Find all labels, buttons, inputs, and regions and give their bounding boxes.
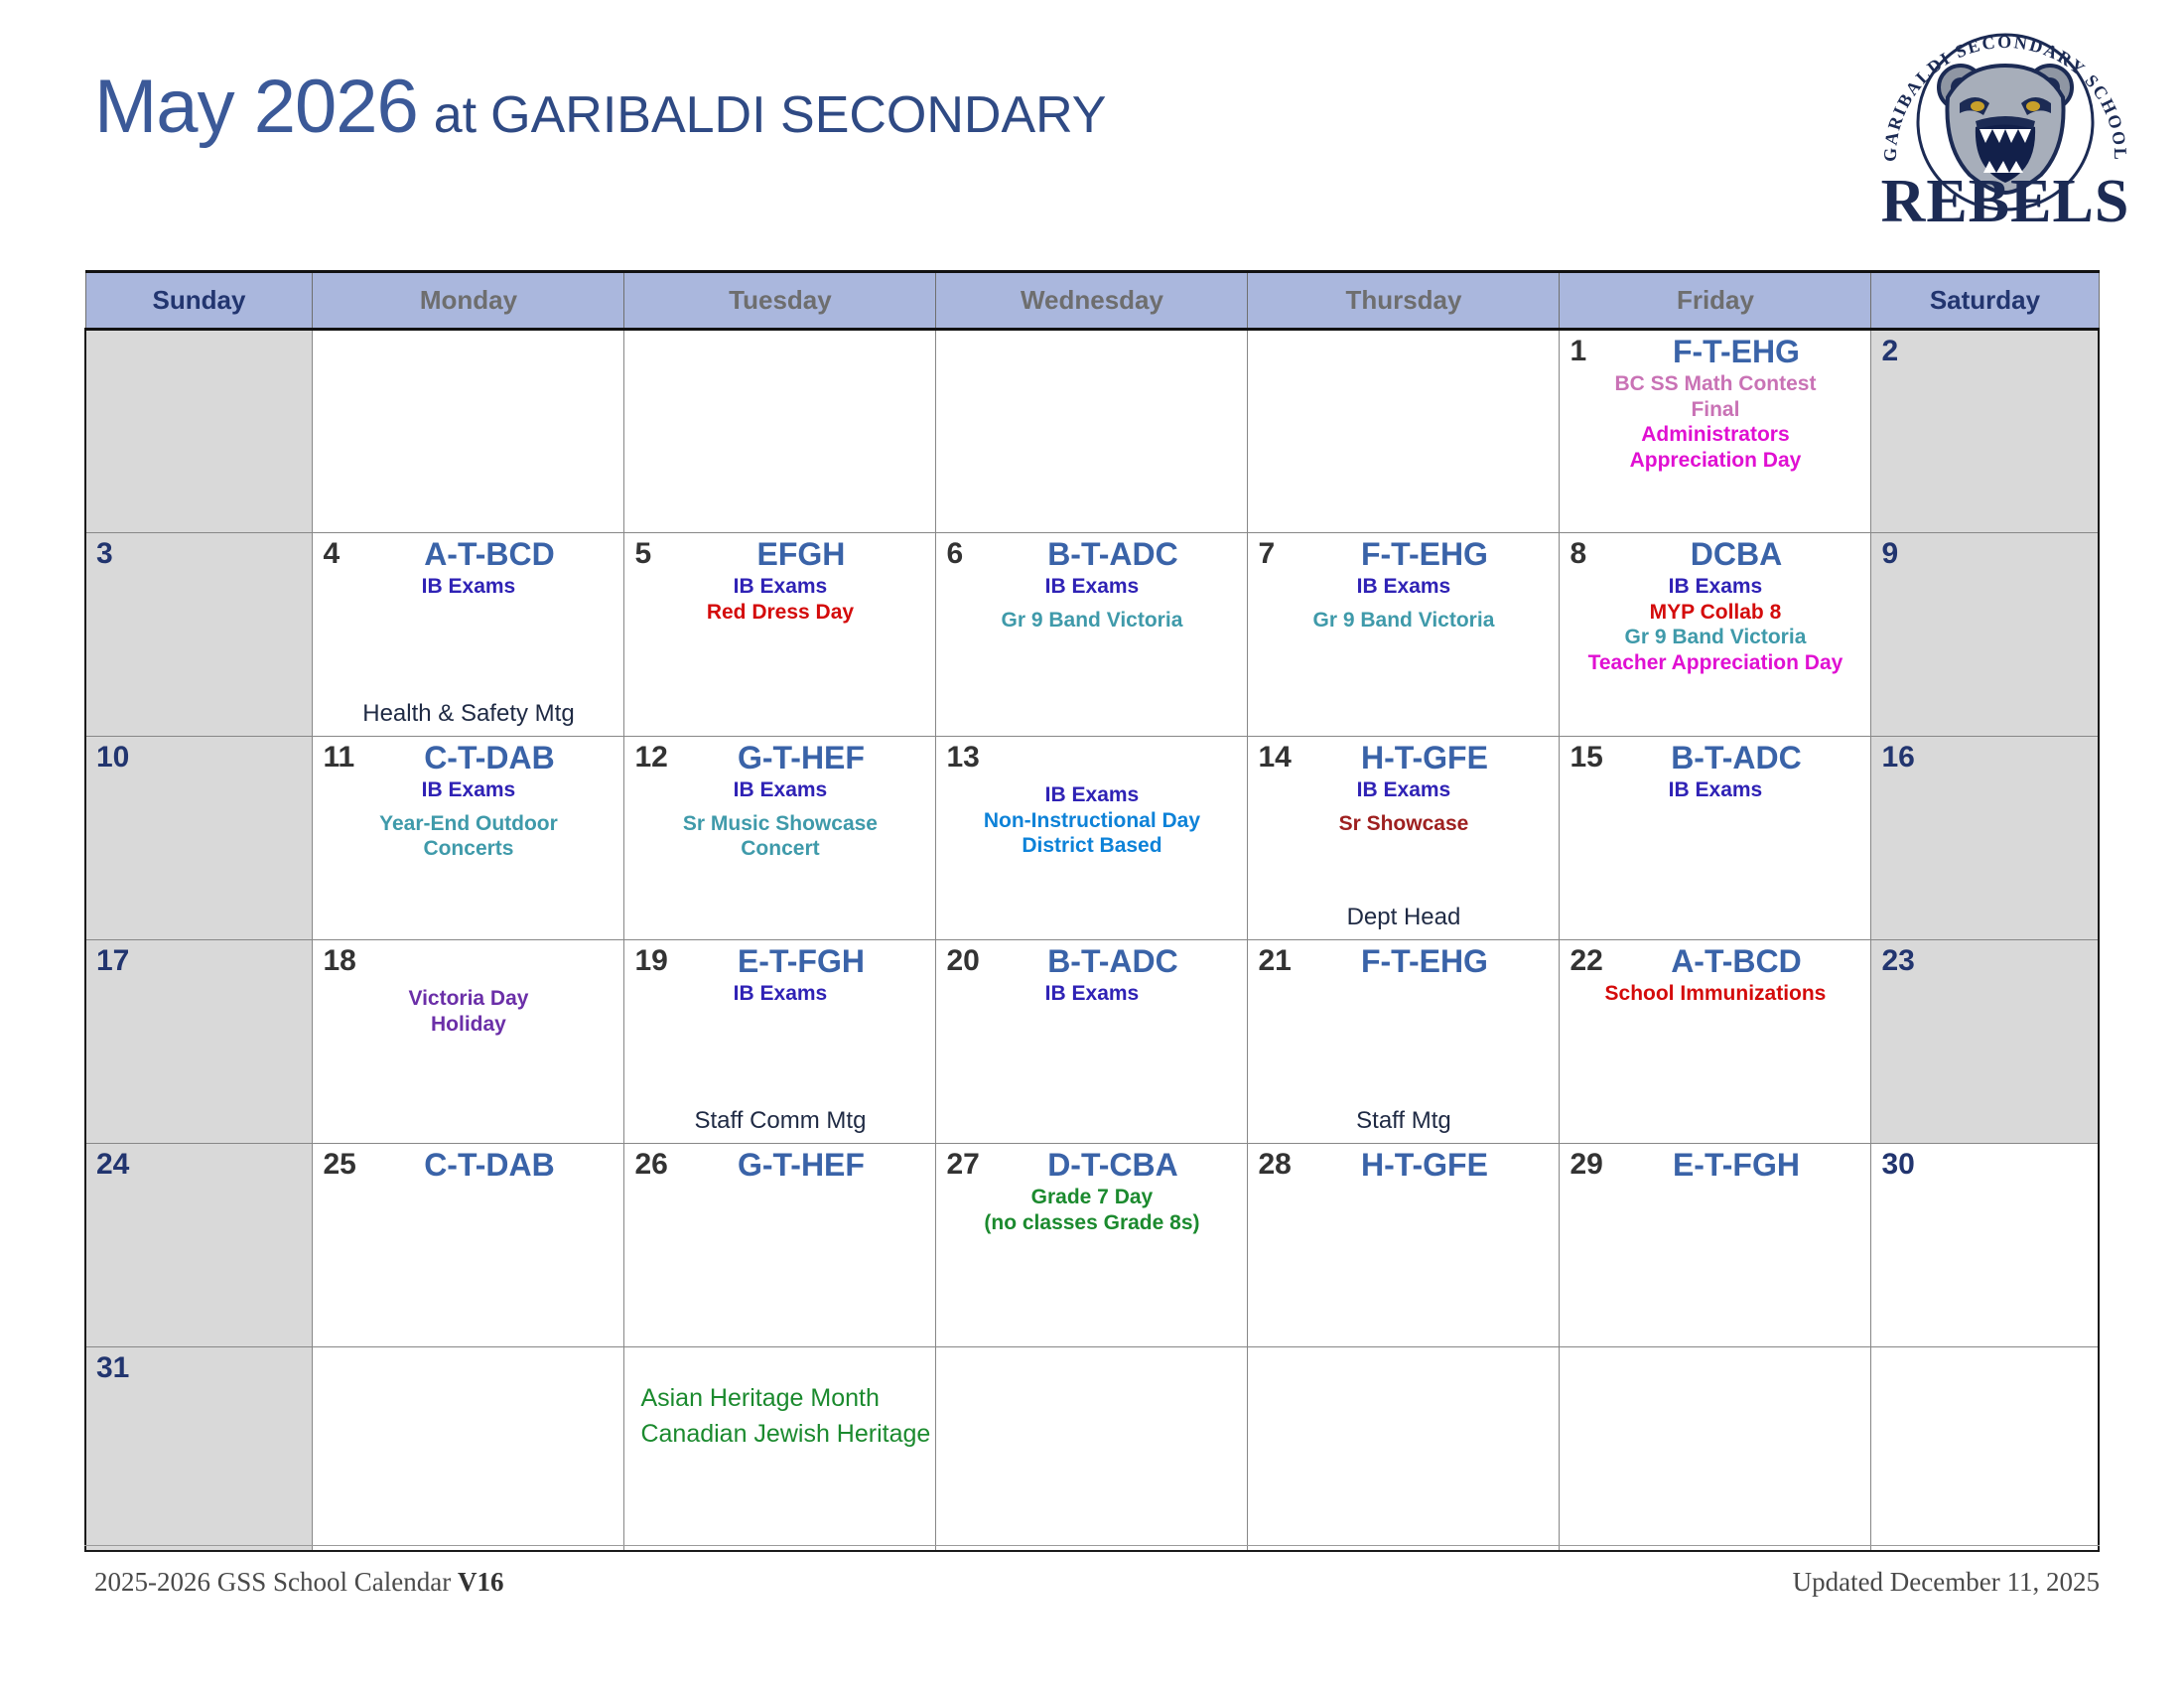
rotation-code: A-T-BCD (1568, 944, 1862, 979)
page-footer: 2025-2026 GSS School Calendar V16 Update… (94, 1567, 2100, 1598)
footer-version: V16 (458, 1567, 504, 1597)
calendar-day-cell-15[interactable]: 15B-T-ADCIB Exams (1560, 737, 1871, 940)
day-number: 5 (634, 537, 651, 570)
calendar-day-cell-1[interactable]: 1F-T-EHGBC SS Math ContestFinalAdministr… (1560, 330, 1871, 533)
day-number: 9 (1881, 537, 1898, 570)
heritage-month-line: Asian Heritage Month (640, 1381, 927, 1417)
rotation-code: H-T-GFE (1256, 1148, 1551, 1183)
weekday-header-saturday: Saturday (1871, 272, 2099, 330)
event-label: Concerts (321, 836, 615, 862)
weekday-header-tuesday: Tuesday (624, 272, 936, 330)
weekday-header-row: SundayMondayTuesdayWednesdayThursdayFrid… (85, 272, 2099, 330)
event-label: Gr 9 Band Victoria (1256, 608, 1551, 633)
event-label: IB Exams (944, 782, 1239, 808)
calendar-day-cell-empty[interactable]: Asian Heritage MonthCanadian Jewish Heri… (624, 1347, 936, 1551)
day-number: 13 (946, 741, 979, 774)
event-label: IB Exams (632, 777, 927, 803)
calendar-day-cell-12[interactable]: 12G-T-HEFIB ExamsSr Music ShowcaseConcer… (624, 737, 936, 940)
calendar-day-cell-24[interactable]: 24 (85, 1144, 313, 1347)
day-number: 31 (96, 1351, 129, 1384)
rotation-placeholder (321, 944, 615, 986)
day-cell-body (86, 331, 312, 339)
footer-updated: Updated December 11, 2025 (1793, 1567, 2100, 1598)
calendar-day-cell-empty[interactable] (1248, 1347, 1560, 1551)
day-cell-body: IB ExamsNon-Instructional DayDistrict Ba… (936, 737, 1247, 863)
day-cell-body: C-T-DAB (313, 1144, 623, 1189)
calendar-day-cell-11[interactable]: 11C-T-DABIB ExamsYear-End OutdoorConcert… (313, 737, 624, 940)
event-spacer (632, 803, 927, 811)
rotation-code: B-T-ADC (944, 537, 1239, 572)
footer-calendar-label: 2025-2026 GSS School Calendar (94, 1567, 458, 1597)
footer-divider (84, 1545, 2100, 1546)
day-cell-body: Victoria DayHoliday (313, 940, 623, 1041)
day-cell-body: E-T-FGHIB Exams (624, 940, 935, 1011)
rotation-code: C-T-DAB (321, 1148, 615, 1183)
calendar-day-cell-18[interactable]: 18Victoria DayHoliday (313, 940, 624, 1144)
calendar-week-row: 34A-T-BCDIB ExamsHealth & Safety Mtg5EFG… (85, 533, 2099, 737)
rotation-code: D-T-CBA (944, 1148, 1239, 1183)
calendar-day-cell-25[interactable]: 25C-T-DAB (313, 1144, 624, 1347)
event-label: Victoria Day (321, 986, 615, 1012)
heritage-month-note: Asian Heritage MonthCanadian Jewish Heri… (632, 1351, 927, 1452)
day-cell-body: DCBAIB ExamsMYP Collab 8Gr 9 Band Victor… (1560, 533, 1870, 680)
day-number: 16 (1881, 741, 1914, 774)
calendar-day-cell-empty[interactable] (1560, 1347, 1871, 1551)
day-number: 17 (96, 944, 129, 977)
calendar-day-cell-empty[interactable] (1248, 330, 1560, 533)
event-spacer (944, 600, 1239, 608)
day-number: 18 (323, 944, 355, 977)
calendar-week-row: 1011C-T-DABIB ExamsYear-End OutdoorConce… (85, 737, 2099, 940)
rotation-code: G-T-HEF (632, 741, 927, 775)
event-label: IB Exams (321, 777, 615, 803)
day-cell-body: A-T-BCDIB Exams (313, 533, 623, 604)
day-number: 14 (1258, 741, 1291, 774)
meeting-note: Staff Mtg (1256, 1106, 1551, 1135)
rotation-code: DCBA (1568, 537, 1862, 572)
calendar-day-cell-22[interactable]: 22A-T-BCDSchool Immunizations (1560, 940, 1871, 1144)
calendar-day-cell-14[interactable]: 14H-T-GFEIB ExamsSr ShowcaseDept Head (1248, 737, 1560, 940)
event-label: BC SS Math Contest (1568, 371, 1862, 397)
calendar-day-cell-10[interactable]: 10 (85, 737, 313, 940)
rotation-code: E-T-FGH (632, 944, 927, 979)
page-title-school: GARIBALDI SECONDARY (490, 89, 1106, 141)
day-cell-body: D-T-CBAGrade 7 Day(no classes Grade 8s) (936, 1144, 1247, 1239)
day-number: 11 (323, 741, 354, 774)
calendar-day-cell-empty[interactable] (313, 330, 624, 533)
day-number: 26 (634, 1148, 667, 1181)
day-cell-body: C-T-DABIB ExamsYear-End OutdoorConcerts (313, 737, 623, 866)
event-label: District Based (944, 833, 1239, 859)
event-label: IB Exams (321, 574, 615, 600)
day-number: 3 (96, 537, 113, 570)
day-cell-body (313, 1347, 623, 1355)
calendar-day-cell-empty[interactable] (936, 1347, 1248, 1551)
day-number: 1 (1570, 335, 1586, 367)
calendar-day-cell-empty[interactable] (85, 330, 313, 533)
calendar-day-cell-16[interactable]: 16 (1871, 737, 2099, 940)
calendar-day-cell-29[interactable]: 29E-T-FGH (1560, 1144, 1871, 1347)
day-number: 7 (1258, 537, 1275, 570)
day-cell-body (1560, 1347, 1870, 1355)
day-number: 15 (1570, 741, 1602, 774)
event-label: School Immunizations (1568, 981, 1862, 1007)
weekday-header-wednesday: Wednesday (936, 272, 1248, 330)
day-cell-body (1871, 331, 2098, 339)
event-label: Gr 9 Band Victoria (1568, 625, 1862, 650)
event-label: Sr Music Showcase (632, 811, 927, 837)
meeting-note-label: Dept Head (1347, 904, 1461, 930)
event-label: IB Exams (944, 574, 1239, 600)
rotation-code: B-T-ADC (944, 944, 1239, 979)
rotation-code: B-T-ADC (1568, 741, 1862, 775)
event-label: Appreciation Day (1568, 448, 1862, 474)
event-label: IB Exams (1256, 574, 1551, 600)
calendar-day-cell-30[interactable]: 30 (1871, 1144, 2099, 1347)
day-cell-body (1871, 1347, 2098, 1355)
page-header: May 2026 at GARIBALDI SECONDARY (94, 70, 1782, 199)
event-label: IB Exams (944, 981, 1239, 1007)
event-label: IB Exams (1256, 777, 1551, 803)
calendar-page: May 2026 at GARIBALDI SECONDARY (0, 0, 2184, 1688)
day-cell-body: E-T-FGH (1560, 1144, 1870, 1189)
meeting-note: Health & Safety Mtg (321, 699, 615, 728)
calendar-day-cell-empty[interactable] (624, 330, 936, 533)
calendar-day-cell-13[interactable]: 13IB ExamsNon-Instructional DayDistrict … (936, 737, 1248, 940)
day-number: 4 (323, 537, 340, 570)
day-number: 22 (1570, 944, 1602, 977)
calendar-day-cell-5[interactable]: 5EFGHIB ExamsRed Dress Day (624, 533, 936, 737)
calendar-day-cell-31[interactable]: 31 (85, 1347, 313, 1551)
calendar-day-cell-8[interactable]: 8DCBAIB ExamsMYP Collab 8Gr 9 Band Victo… (1560, 533, 1871, 737)
page-title-month: May 2026 (94, 70, 418, 145)
rotation-code: A-T-BCD (321, 537, 615, 572)
day-cell-body: B-T-ADCIB ExamsGr 9 Band Victoria (936, 533, 1247, 636)
day-number: 23 (1881, 944, 1914, 977)
day-number: 2 (1881, 335, 1898, 367)
day-cell-body: B-T-ADCIB Exams (1560, 737, 1870, 807)
day-cell-body: G-T-HEFIB ExamsSr Music ShowcaseConcert (624, 737, 935, 866)
day-cell-body: EFGHIB ExamsRed Dress Day (624, 533, 935, 629)
event-label: Year-End Outdoor (321, 811, 615, 837)
logo-wordmark: REBELS (1881, 168, 2130, 231)
event-label: Gr 9 Band Victoria (944, 608, 1239, 633)
calendar-day-cell-28[interactable]: 28H-T-GFE (1248, 1144, 1560, 1347)
calendar-day-cell-27[interactable]: 27D-T-CBAGrade 7 Day(no classes Grade 8s… (936, 1144, 1248, 1347)
calendar-day-cell-9[interactable]: 9 (1871, 533, 2099, 737)
weekday-header-thursday: Thursday (1248, 272, 1560, 330)
event-label: Concert (632, 836, 927, 862)
calendar-day-cell-empty[interactable] (936, 330, 1248, 533)
day-cell-body: H-T-GFE (1248, 1144, 1559, 1189)
event-label: (no classes Grade 8s) (944, 1210, 1239, 1236)
event-label: IB Exams (632, 574, 927, 600)
calendar-week-row: 31Asian Heritage MonthCanadian Jewish He… (85, 1347, 2099, 1551)
day-cell-body (313, 331, 623, 339)
day-number: 24 (96, 1148, 129, 1181)
calendar-day-cell-20[interactable]: 20B-T-ADCIB Exams (936, 940, 1248, 1144)
calendar-day-cell-26[interactable]: 26G-T-HEF (624, 1144, 936, 1347)
calendar-grid: SundayMondayTuesdayWednesdayThursdayFrid… (84, 270, 2100, 1552)
day-cell-body (1248, 1347, 1559, 1355)
day-number: 12 (634, 741, 667, 774)
calendar-day-cell-4[interactable]: 4A-T-BCDIB ExamsHealth & Safety Mtg (313, 533, 624, 737)
event-label: IB Exams (632, 981, 927, 1007)
calendar-day-cell-empty[interactable] (313, 1347, 624, 1551)
day-number: 25 (323, 1148, 355, 1181)
calendar-day-cell-23[interactable]: 23 (1871, 940, 2099, 1144)
meeting-note-label: Staff Mtg (1356, 1107, 1451, 1134)
event-label: MYP Collab 8 (1568, 600, 1862, 626)
day-number: 20 (946, 944, 979, 977)
calendar-week-row: 1F-T-EHGBC SS Math ContestFinalAdministr… (85, 330, 2099, 533)
calendar-week-row: 1718Victoria DayHoliday19E-T-FGHIB Exams… (85, 940, 2099, 1144)
day-cell-body: H-T-GFEIB ExamsSr Showcase (1248, 737, 1559, 840)
weekday-header-monday: Monday (313, 272, 624, 330)
day-number: 19 (634, 944, 667, 977)
event-spacer (321, 803, 615, 811)
rotation-placeholder (944, 741, 1239, 782)
day-number: 30 (1881, 1148, 1914, 1181)
event-spacer (1256, 803, 1551, 811)
event-label: Teacher Appreciation Day (1568, 650, 1862, 676)
event-spacer (1256, 600, 1551, 608)
day-cell-body: F-T-EHG (1248, 940, 1559, 985)
event-label: IB Exams (1568, 574, 1862, 600)
event-label: Holiday (321, 1012, 615, 1038)
calendar-day-cell-2[interactable]: 2 (1871, 330, 2099, 533)
rotation-code: G-T-HEF (632, 1148, 927, 1183)
day-number: 29 (1570, 1148, 1602, 1181)
weekday-header-sunday: Sunday (85, 272, 313, 330)
rotation-code: F-T-EHG (1568, 335, 1862, 369)
footer-left: 2025-2026 GSS School Calendar V16 (94, 1567, 503, 1598)
day-number: 8 (1570, 537, 1586, 570)
calendar-day-cell-empty[interactable] (1871, 1347, 2099, 1551)
event-label: Final (1568, 397, 1862, 423)
calendar-day-cell-17[interactable]: 17 (85, 940, 313, 1144)
day-cell-body: B-T-ADCIB Exams (936, 940, 1247, 1011)
event-label: Administrators (1568, 422, 1862, 448)
rotation-code: C-T-DAB (321, 741, 615, 775)
rotation-code: H-T-GFE (1256, 741, 1551, 775)
day-cell-body: Asian Heritage MonthCanadian Jewish Heri… (624, 1347, 935, 1456)
rotation-code: F-T-EHG (1256, 944, 1551, 979)
meeting-note: Dept Head (1256, 903, 1551, 931)
day-number: 6 (946, 537, 963, 570)
day-number: 21 (1258, 944, 1291, 977)
day-cell-body (624, 331, 935, 339)
event-label: Grade 7 Day (944, 1185, 1239, 1210)
day-cell-body: A-T-BCDSchool Immunizations (1560, 940, 1870, 1011)
heritage-month-line: Canadian Jewish Heritage Month (640, 1417, 927, 1453)
day-cell-body: F-T-EHGBC SS Math ContestFinalAdministra… (1560, 331, 1870, 478)
calendar-day-cell-19[interactable]: 19E-T-FGHIB ExamsStaff Comm Mtg (624, 940, 936, 1144)
rotation-code: E-T-FGH (1568, 1148, 1862, 1183)
day-cell-body: F-T-EHGIB ExamsGr 9 Band Victoria (1248, 533, 1559, 636)
meeting-note: Staff Comm Mtg (632, 1106, 927, 1135)
day-cell-body (936, 1347, 1247, 1355)
day-cell-body (86, 533, 312, 541)
page-title-at: at (434, 89, 477, 141)
event-label: Non-Instructional Day (944, 808, 1239, 834)
calendar-week-row: 2425C-T-DAB26G-T-HEF27D-T-CBAGrade 7 Day… (85, 1144, 2099, 1347)
rotation-code: EFGH (632, 537, 927, 572)
calendar-day-cell-3[interactable]: 3 (85, 533, 313, 737)
day-number: 28 (1258, 1148, 1291, 1181)
event-label: Red Dress Day (632, 600, 927, 626)
day-cell-body (1871, 533, 2098, 541)
calendar-day-cell-6[interactable]: 6B-T-ADCIB ExamsGr 9 Band Victoria (936, 533, 1248, 737)
school-logo-icon: GARIBALDI SECONDARY SCHOOL REBELS (1856, 18, 2154, 231)
day-number: 10 (96, 741, 129, 774)
calendar-day-cell-21[interactable]: 21F-T-EHGStaff Mtg (1248, 940, 1560, 1144)
day-cell-body (936, 331, 1247, 339)
rotation-code: F-T-EHG (1256, 537, 1551, 572)
event-label: IB Exams (1568, 777, 1862, 803)
day-number: 27 (946, 1148, 979, 1181)
meeting-note-label: Health & Safety Mtg (362, 700, 574, 727)
calendar-day-cell-7[interactable]: 7F-T-EHGIB ExamsGr 9 Band Victoria (1248, 533, 1560, 737)
day-cell-body: G-T-HEF (624, 1144, 935, 1189)
event-label: Sr Showcase (1256, 811, 1551, 837)
meeting-note-label: Staff Comm Mtg (694, 1107, 866, 1134)
day-cell-body (1248, 331, 1559, 339)
weekday-header-friday: Friday (1560, 272, 1871, 330)
